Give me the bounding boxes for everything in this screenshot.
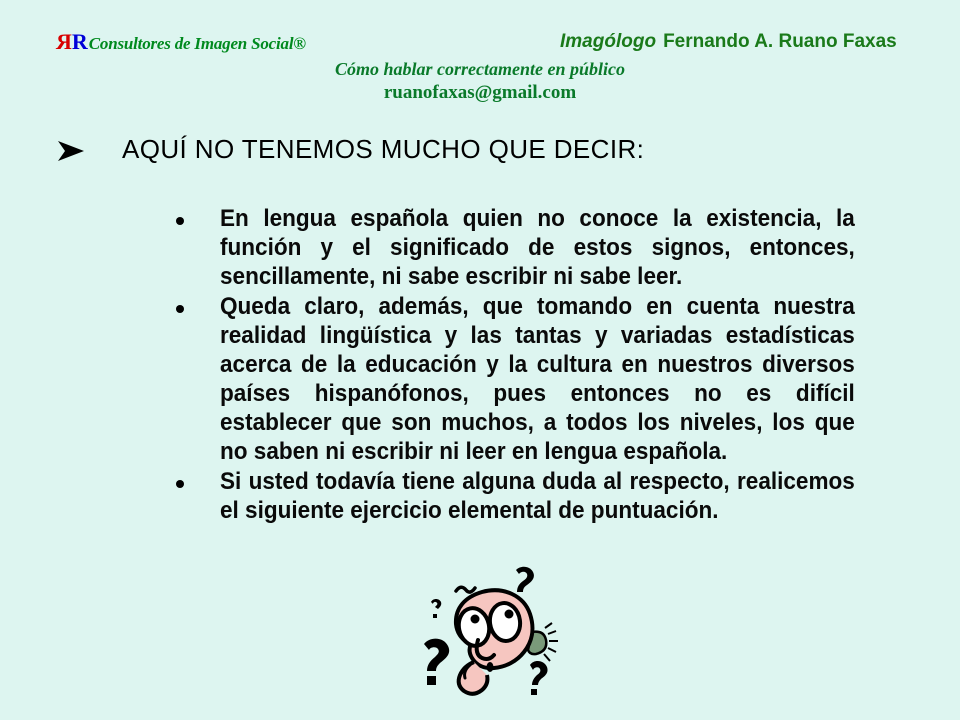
bullet-dot-icon [170,467,220,488]
brand-wordmark: Consultores de Imagen Social® [89,34,306,53]
page-title-text: AQUÍ NO TENEMOS MUCHO QUE DECIR: [122,134,644,165]
header-email: ruanofaxas@gmail.com [0,83,960,103]
slide-canvas: RRConsultores de Imagen Social® Imagólog… [0,0,960,720]
author-role: Imagólogo [560,31,656,52]
brand-r-letter: R [72,29,88,54]
arrowhead-bullet-icon [56,134,90,162]
list-item-text: Si usted todavía tiene alguna duda al re… [220,467,855,525]
list-item-text: En lengua española quien no conoce la ex… [220,204,855,291]
brand-logo: RRConsultores de Imagen Social® [56,31,306,53]
bullet-list: En lengua española quien no conoce la ex… [170,204,910,526]
author-line: ImagólogoFernando A. Ruano Faxas [560,32,897,51]
brand-reversed-r-icon: R [56,31,72,53]
bullet-dot-icon [170,204,220,225]
list-item: En lengua española quien no conoce la ex… [170,204,910,291]
header-subtitle: Cómo hablar correctamente en público [0,60,960,79]
list-item: Queda claro, además, que tomando en cuen… [170,292,910,466]
confused-face-cartoon [412,566,592,718]
list-item-text: Queda claro, además, que tomando en cuen… [220,292,855,466]
list-item: Si usted todavía tiene alguna duda al re… [170,467,910,525]
author-name: Fernando A. Ruano Faxas [663,31,897,52]
bullet-dot-icon [170,292,220,313]
page-title: AQUÍ NO TENEMOS MUCHO QUE DECIR: [56,134,644,165]
